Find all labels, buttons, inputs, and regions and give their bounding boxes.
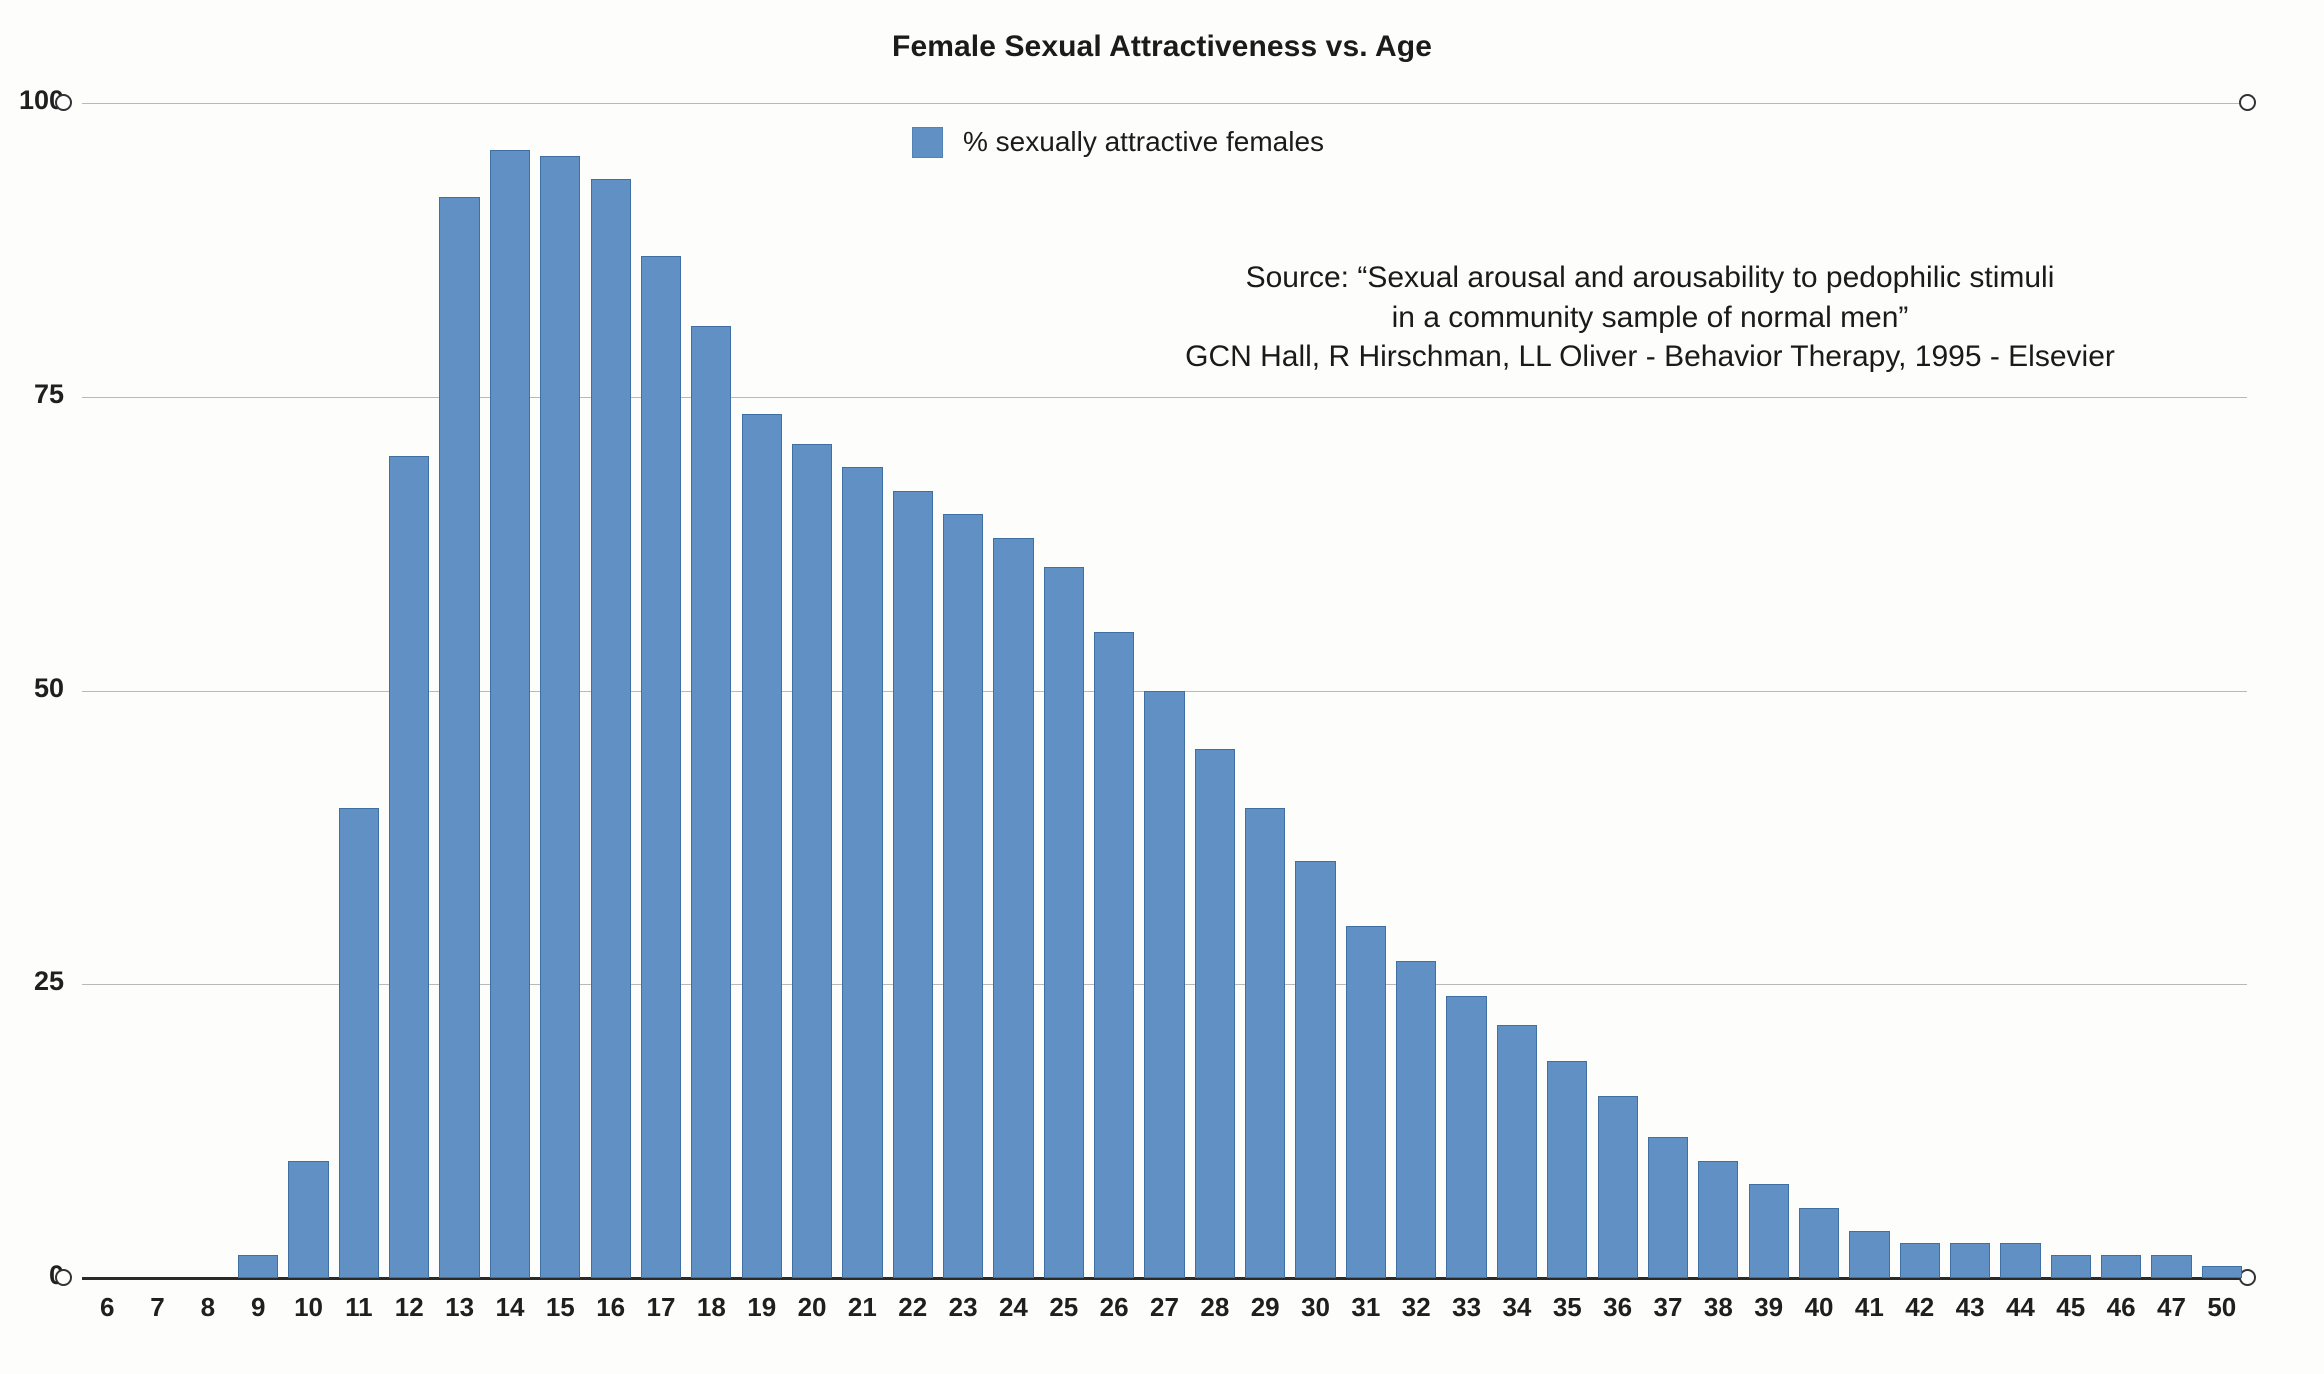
x-tick-label: 38 (1693, 1292, 1743, 1323)
bar[interactable] (439, 197, 479, 1278)
bar[interactable] (1245, 808, 1285, 1278)
axis-handle-left-100[interactable] (55, 94, 72, 111)
bar[interactable] (742, 414, 782, 1278)
x-tick-label: 42 (1895, 1292, 1945, 1323)
chart-container: Female Sexual Attractiveness vs. Age 100… (0, 0, 2324, 1374)
x-tick-label: 43 (1945, 1292, 1995, 1323)
bar[interactable] (238, 1255, 278, 1279)
bar-series (82, 103, 2247, 1278)
x-tick-label: 26 (1089, 1292, 1139, 1323)
bar[interactable] (389, 456, 429, 1279)
x-tick-label: 16 (585, 1292, 635, 1323)
x-axis: 6789101112131415161718192021222324252627… (82, 1292, 2247, 1332)
x-tick-label: 45 (2046, 1292, 2096, 1323)
y-tick-label-25: 25 (0, 966, 64, 997)
bar[interactable] (2202, 1266, 2242, 1278)
x-tick-label: 24 (988, 1292, 1038, 1323)
x-tick-label: 33 (1441, 1292, 1491, 1323)
x-tick-label: 30 (1290, 1292, 1340, 1323)
x-tick-label: 46 (2096, 1292, 2146, 1323)
bar[interactable] (1144, 691, 1184, 1279)
x-tick-label: 12 (384, 1292, 434, 1323)
x-tick-label: 6 (82, 1292, 132, 1323)
bar[interactable] (993, 538, 1033, 1278)
x-tick-label: 17 (636, 1292, 686, 1323)
bar[interactable] (1849, 1231, 1889, 1278)
x-tick-label: 37 (1643, 1292, 1693, 1323)
x-tick-label: 35 (1542, 1292, 1592, 1323)
bar[interactable] (1900, 1243, 1940, 1278)
x-tick-label: 32 (1391, 1292, 1441, 1323)
x-tick-label: 20 (787, 1292, 837, 1323)
bar[interactable] (1044, 567, 1084, 1278)
axis-handle-left-0[interactable] (55, 1269, 72, 1286)
x-tick-label: 40 (1794, 1292, 1844, 1323)
bar[interactable] (1094, 632, 1134, 1278)
bar[interactable] (1396, 961, 1436, 1278)
bar[interactable] (288, 1161, 328, 1279)
bar[interactable] (1295, 861, 1335, 1278)
x-tick-label: 19 (737, 1292, 787, 1323)
x-tick-label: 8 (183, 1292, 233, 1323)
bar[interactable] (893, 491, 933, 1278)
x-tick-label: 47 (2146, 1292, 2196, 1323)
bar[interactable] (1749, 1184, 1789, 1278)
x-tick-label: 10 (283, 1292, 333, 1323)
bar[interactable] (943, 514, 983, 1278)
bar[interactable] (591, 179, 631, 1278)
x-tick-label: 28 (1190, 1292, 1240, 1323)
bar[interactable] (1547, 1061, 1587, 1278)
bar[interactable] (490, 150, 530, 1278)
x-tick-label: 41 (1844, 1292, 1894, 1323)
x-tick-label: 29 (1240, 1292, 1290, 1323)
bar[interactable] (1950, 1243, 1990, 1278)
x-tick-label: 7 (132, 1292, 182, 1323)
chart-title: Female Sexual Attractiveness vs. Age (0, 30, 2324, 64)
bar[interactable] (1446, 996, 1486, 1278)
bar[interactable] (540, 156, 580, 1278)
x-tick-label: 25 (1039, 1292, 1089, 1323)
x-tick-label: 34 (1492, 1292, 1542, 1323)
x-tick-label: 18 (686, 1292, 736, 1323)
x-tick-label: 9 (233, 1292, 283, 1323)
x-tick-label: 39 (1744, 1292, 1794, 1323)
bar[interactable] (1346, 926, 1386, 1279)
bar[interactable] (2051, 1255, 2091, 1279)
bar[interactable] (792, 444, 832, 1278)
x-tick-label: 27 (1139, 1292, 1189, 1323)
x-tick-label: 44 (1995, 1292, 2045, 1323)
bar[interactable] (1598, 1096, 1638, 1278)
x-tick-label: 36 (1592, 1292, 1642, 1323)
bar[interactable] (842, 467, 882, 1278)
bar[interactable] (1195, 749, 1235, 1278)
y-tick-label-50: 50 (0, 673, 64, 704)
bar[interactable] (1698, 1161, 1738, 1279)
x-tick-label: 22 (888, 1292, 938, 1323)
x-tick-label: 23 (938, 1292, 988, 1323)
bar[interactable] (691, 326, 731, 1278)
bar[interactable] (339, 808, 379, 1278)
x-tick-label: 31 (1341, 1292, 1391, 1323)
bar[interactable] (2101, 1255, 2141, 1279)
bar[interactable] (1648, 1137, 1688, 1278)
bar[interactable] (1799, 1208, 1839, 1279)
bar[interactable] (641, 256, 681, 1278)
y-tick-label-75: 75 (0, 379, 64, 410)
x-tick-label: 13 (434, 1292, 484, 1323)
bar[interactable] (2000, 1243, 2040, 1278)
x-tick-label: 14 (485, 1292, 535, 1323)
x-tick-label: 50 (2197, 1292, 2247, 1323)
bar[interactable] (2151, 1255, 2191, 1279)
bar[interactable] (1497, 1025, 1537, 1278)
x-tick-label: 11 (334, 1292, 384, 1323)
x-tick-label: 15 (535, 1292, 585, 1323)
x-tick-label: 21 (837, 1292, 887, 1323)
